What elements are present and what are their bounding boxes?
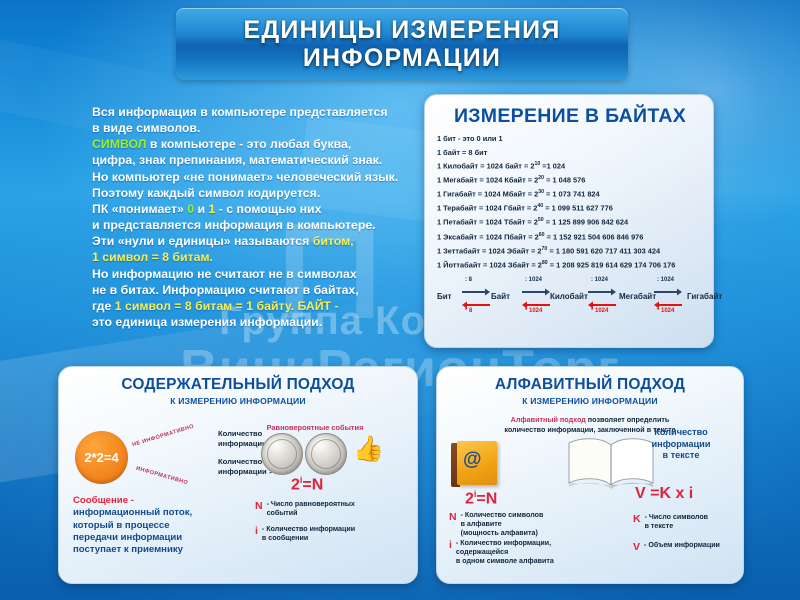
bytes-row: 1 Йоттабайт = 1024 Збайт = 280 = 1 208 9… [437,261,703,269]
message-definition: Сообщение - информационный поток, которы… [73,495,258,556]
legend-text: - Количество информации в сообщении [262,525,355,543]
legend-i-right: i- Количество информации, содержащейся в… [449,539,624,569]
page-title: ЕДИНИЦЫ ИЗМЕРЕНИЯ ИНФОРМАЦИИ [176,8,628,80]
bytes-row-list: 1 бит - это 0 или 11 байт = 8 бит1 Килоб… [437,135,703,269]
at-symbol: @ [463,450,482,469]
unit-conversion-diagram: БитБайтКилобайтМегабайтГигабайт: 8* 8: 1… [437,275,703,321]
intro-text-block: Вся информация в компьютере представляет… [92,104,402,330]
message-text: информационный поток, который в процессе… [73,507,192,555]
bytes-row-pre: 1 Мегабайт = 1024 Кбайт = 2 [437,176,538,185]
label-informative: ИНФОРМАТИВНО [135,466,189,487]
legend-k-right: K- Число символов в тексте [633,513,743,533]
bytes-row-pre: 1 Гигабайт = 1024 Мбайт = 2 [437,190,538,199]
intro-line-text: Эти «нули и единицы» называются [92,234,313,248]
legend-symbol: i [255,525,258,539]
legend-text: - Количество символов в алфавите (мощнос… [461,511,544,539]
label-not-informative: НЕ ИНФОРМАТИВНО [132,424,195,449]
formula-tail: =N [476,490,497,507]
title-line-2: ИНФОРМАЦИИ [303,44,501,72]
bytes-row-pre: 1 Эксабайт = 1024 Пбайт = 2 [437,232,539,241]
bytes-row: 1 Эксабайт = 1024 Пбайт = 260 = 1 152 92… [437,233,703,241]
intro-line: Но информацию не считают не в символах [92,266,402,282]
bytes-row: 1 бит - это 0 или 1 [437,135,703,142]
chain-arrow-pair [587,288,617,314]
bytes-row: 1 Зеттабайт = 1024 Эбайт = 270 = 1 180 5… [437,247,703,255]
formula-2i-n-left: 2i=N [291,475,323,494]
bytes-row-post: =1 024 [540,162,565,171]
bytes-row-pre: 1 Терабайт = 1024 Гбайт = 2 [437,204,537,213]
alphabet-approach-panel: АЛФАВИТНЫЙ ПОДХОД К ИЗМЕРЕНИЮ ИНФОРМАЦИИ… [436,366,744,584]
example-circle: 2*2=4 [75,431,128,484]
intro-highlight-bait: 1 символ = 8 битам = 1 байту. БАЙТ - [115,299,339,313]
intro-line: и представляется информация в компьютере… [92,217,402,233]
legend-text: - Число символов в тексте [645,513,708,531]
intro-line-text: и [194,202,208,216]
bytes-row-post: = 1 208 925 819 614 629 174 706 176 [548,260,676,269]
formula-base: 2 [465,490,474,507]
bytes-row: 1 Мегабайт = 1024 Кбайт = 220 = 1 048 57… [437,176,703,184]
bytes-row-pre: 1 Петабайт = 1024 Тбайт = 2 [437,218,538,227]
chain-divide-label: : 1024 [525,277,542,283]
formula-tail: =N [302,476,323,493]
content-approach-panel: СОДЕРЖАТЕЛЬНЫЙ ПОДХОД К ИЗМЕРЕНИЮ ИНФОРМ… [58,366,418,584]
intro-line-text: в компьютере - это любая буква, [146,137,351,151]
legend-text: - Количество информации, содержащейся в … [456,539,554,567]
legend-n-left: N- Число равновероятных событий [255,500,405,520]
bytes-row: 1 Петабайт = 1024 Тбайт = 250 = 1 125 89… [437,218,703,226]
intro-line: цифра, знак препинания, математический з… [92,152,402,168]
bytes-row-pre: 1 Килобайт = 1024 байт = 2 [437,162,534,171]
intro-highlight-simvol: СИМВОЛ [92,137,146,151]
bytes-panel-title: ИЗМЕРЕНИЕ В БАЙТАХ [437,105,703,128]
bytes-panel: ИЗМЕРЕНИЕ В БАЙТАХ 1 бит - это 0 или 11 … [424,94,714,348]
bytes-row-post: = 1 099 511 627 776 [543,204,613,213]
alphabet-note-highlight: Алфавитный подход [511,415,586,424]
legend-symbol: i [449,539,452,553]
alphabet-approach-subtitle: К ИЗМЕРЕНИЮ ИНФОРМАЦИИ [437,396,743,406]
intro-line-text: ПК «понимает» [92,202,187,216]
content-approach-title: СОДЕРЖАТЕЛЬНЫЙ ПОДХОД [59,376,417,394]
coin-icon [261,433,303,475]
hand-flip-icon: 👍 [353,437,384,462]
intro-line: это единица измерения информации. [92,314,402,330]
chain-arrow-pair [461,288,491,314]
quantity-in-text-title: Количество информации в тексте [627,427,735,462]
message-label: Сообщение - [73,495,134,506]
coins-illustration: 👍 [257,433,375,475]
intro-line-highlight: 1 символ = 8 битам. [92,249,402,265]
bytes-row-post: = 1 125 899 906 842 624 [544,218,628,227]
poster-canvas: ⊓ Группа Компаний ВиниРегионТорг ЕДИНИЦЫ… [0,0,800,600]
legend-n-right: N- Количество символов в алфавите (мощно… [449,511,617,541]
legend-text: - Объем информации [644,541,720,550]
intro-line: ПК «понимает» 0 и 1 - с помощью них [92,201,402,217]
bytes-row-pre: 1 Йоттабайт = 1024 Збайт = 2 [437,260,542,269]
chain-arrow-pair [521,288,551,314]
intro-line: СИМВОЛ в компьютере - это любая буква, [92,136,402,152]
intro-line: не в битах. Информацию считают в байтах, [92,282,402,298]
chain-unit: Килобайт [550,292,588,301]
equiprobable-events-title: Равновероятные события [255,423,375,432]
chain-unit: Байт [491,292,510,301]
legend-text: - Число равновероятных событий [267,500,355,518]
coin-icon [305,433,347,475]
chain-divide-label: : 8 [465,277,472,283]
legend-symbol: K [633,513,641,527]
intro-line: где 1 символ = 8 битам = 1 байту. БАЙТ - [92,298,402,314]
bytes-row: 1 Терабайт = 1024 Гбайт = 240 = 1 099 51… [437,204,703,212]
legend-symbol: N [449,511,457,525]
intro-line: Поэтому каждый символ кодируется. [92,185,402,201]
chain-arrow-pair [653,288,683,314]
bytes-row-post: = 1 152 921 504 606 846 976 [545,232,644,241]
intro-highlight-bitom: битом, [313,234,354,248]
bytes-row: 1 байт = 8 бит [437,149,703,156]
legend-symbol: V [633,541,640,555]
formula-2i-n-right: 2i=N [465,489,497,508]
at-book-icon: @ [451,441,499,487]
legend-symbol: N [255,500,263,514]
legend-i-left: i- Количество информации в сообщении [255,525,405,545]
intro-line: Эти «нули и единицы» называются битом, [92,233,402,249]
legend-v-right: V- Объем информации [633,541,743,557]
bytes-row-post: = 1 048 576 [544,176,585,185]
formula-v-k-i: V =K x i [635,485,693,503]
title-line-1: ЕДИНИЦЫ ИЗМЕРЕНИЯ [243,16,560,44]
chain-unit: Гигабайт [687,292,722,301]
bytes-row-post: = 1 073 741 824 [544,190,600,199]
alphabet-approach-title: АЛФАВИТНЫЙ ПОДХОД [437,376,743,394]
formula-base: 2 [291,476,300,493]
intro-line-text: - с помощью них [215,202,321,216]
intro-line: в виде символов. [92,120,402,136]
chain-unit: Бит [437,292,452,301]
chain-unit: Мегабайт [619,292,656,301]
bytes-row-post: = 1 180 591 620 717 411 303 424 [547,246,660,255]
chain-divide-label: : 1024 [591,277,608,283]
intro-line: Вся информация в компьютере представляет… [92,104,402,120]
chain-divide-label: : 1024 [657,277,674,283]
bytes-row: 1 Килобайт = 1024 байт = 210 =1 024 [437,162,703,170]
bytes-row: 1 Гигабайт = 1024 Мбайт = 230 = 1 073 74… [437,190,703,198]
intro-line: Но компьютер «не понимает» человеческий … [92,169,402,185]
content-approach-subtitle: К ИЗМЕРЕНИЮ ИНФОРМАЦИИ [59,396,417,406]
bytes-row-pre: 1 Зеттабайт = 1024 Эбайт = 2 [437,246,542,255]
intro-line-text: где [92,299,115,313]
